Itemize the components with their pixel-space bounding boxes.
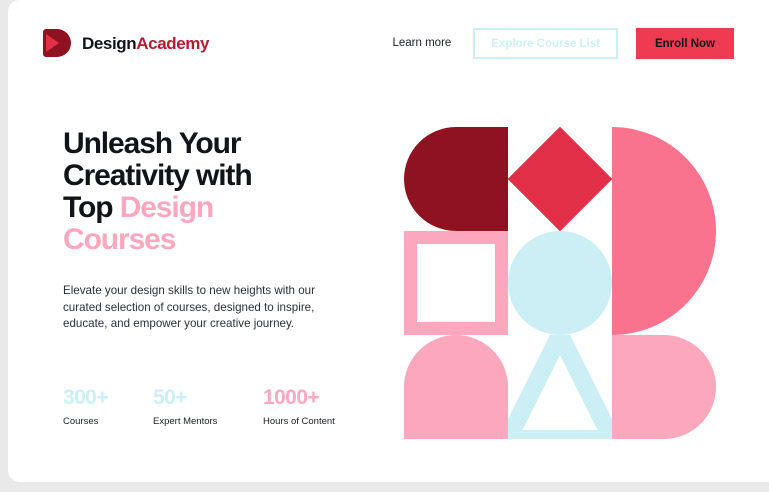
headline-line-3-plain: Top: [63, 191, 120, 224]
explore-course-list-button[interactable]: Explore Course List: [473, 28, 618, 59]
stat-item-courses: 300+ Courses: [63, 387, 153, 427]
learn-more-link[interactable]: Learn more: [388, 38, 455, 50]
graphic-cell-r0c1: [508, 127, 612, 231]
brand-name-part-1: Design: [82, 34, 136, 53]
stat-value: 50+: [153, 387, 263, 409]
stat-value: 300+: [63, 387, 153, 409]
headline-line-3-accent: Design: [120, 191, 213, 224]
header-actions: Learn more Explore Course List Enroll No…: [388, 28, 734, 59]
stat-label: Expert Mentors: [153, 416, 263, 427]
logo-play-arrow-icon: [46, 34, 59, 52]
cyan-circle-shape: [508, 231, 612, 335]
headline-line-4-accent: Courses: [63, 223, 175, 256]
graphic-cell-r0c0: [404, 127, 508, 231]
stat-label: Courses: [63, 416, 153, 427]
graphic-cell-r1c1: [508, 231, 612, 335]
light-pink-quarter-shape: [612, 335, 716, 439]
site-header: DesignAcademy Learn more Explore Course …: [8, 0, 769, 88]
hero-stats: 300+ Courses 50+ Expert Mentors 1000+ Ho…: [63, 387, 403, 427]
brand-logo[interactable]: DesignAcademy: [43, 28, 209, 58]
hero-headline: Unleash YourCreativity withTop DesignCou…: [63, 128, 333, 256]
graphic-cell-r0c2: [612, 127, 716, 335]
pink-half-round-shape: [612, 127, 716, 335]
headline-line-2: Creativity with: [63, 159, 252, 192]
design-academy-logo-icon: [43, 29, 71, 57]
cyan-triangle-outline-shape: [508, 335, 612, 439]
stat-label: Hours of Content: [263, 416, 403, 427]
pink-quarter-round-shape: [404, 335, 508, 439]
crimson-diamond-shape: [508, 127, 613, 232]
hero-geometric-graphic: [404, 127, 716, 439]
pink-square-outline-shape: [404, 231, 508, 335]
hero-text-column: Unleash YourCreativity withTop DesignCou…: [63, 128, 363, 333]
graphic-cell-r2c0: [404, 335, 508, 439]
hero-card: DesignAcademy Learn more Explore Course …: [8, 0, 769, 482]
stat-item-hours-of-content: 1000+ Hours of Content: [263, 387, 403, 427]
stat-item-expert-mentors: 50+ Expert Mentors: [153, 387, 263, 427]
brand-name-part-2: Academy: [136, 34, 209, 53]
graphic-cell-r1c0: [404, 231, 508, 335]
stat-value: 1000+: [263, 387, 403, 409]
dark-red-d-shape: [404, 127, 508, 231]
enroll-now-button[interactable]: Enroll Now: [636, 28, 734, 59]
graphic-cell-r2c2: [612, 335, 716, 439]
hero-subcopy: Elevate your design skills to new height…: [63, 283, 346, 333]
headline-line-1: Unleash Your: [63, 127, 240, 160]
graphic-cell-r2c1: [508, 335, 612, 439]
page-root: DesignAcademy Learn more Explore Course …: [0, 0, 769, 492]
brand-name: DesignAcademy: [82, 35, 209, 52]
